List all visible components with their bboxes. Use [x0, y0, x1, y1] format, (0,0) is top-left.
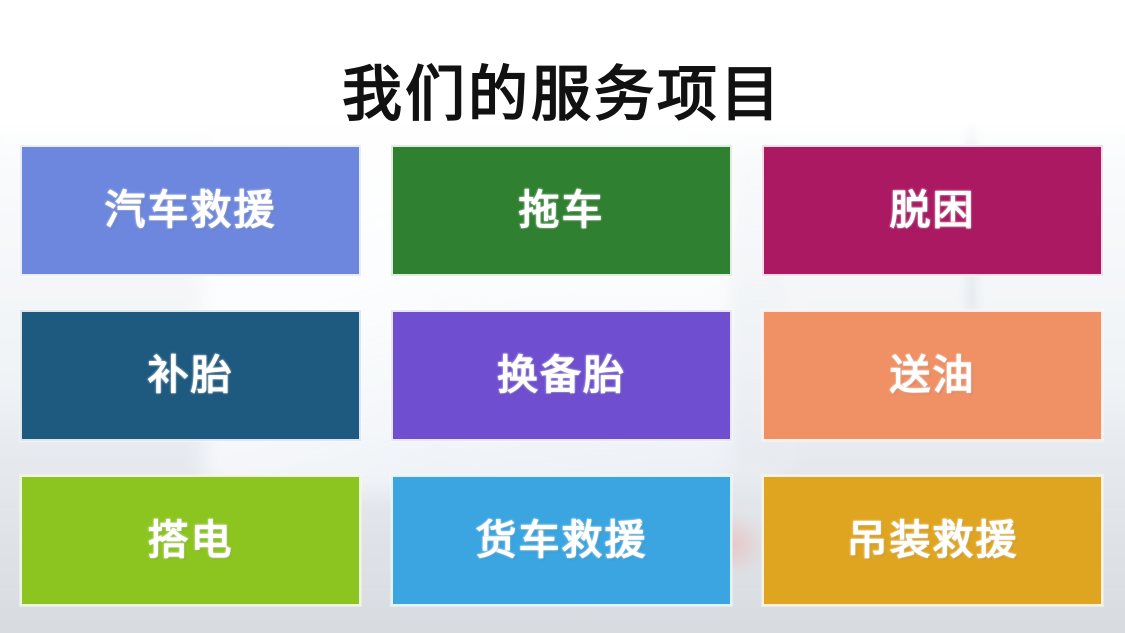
service-tile-label: 吊装救援 — [847, 520, 1019, 561]
service-tile-label: 货车救援 — [476, 520, 648, 561]
service-tile-label: 补胎 — [148, 355, 234, 396]
service-tile[interactable]: 吊装救援 — [762, 475, 1103, 606]
service-tile[interactable]: 汽车救援 — [20, 145, 361, 276]
service-tile-label: 搭电 — [148, 520, 234, 561]
service-tile[interactable]: 货车救援 — [391, 475, 732, 606]
service-list-slide: 我们的服务项目 汽车救援拖车脱困补胎换备胎送油搭电货车救援吊装救援 — [0, 0, 1125, 633]
service-tile[interactable]: 脱困 — [762, 145, 1103, 276]
service-tile-label: 汽车救援 — [105, 190, 277, 231]
service-tile[interactable]: 补胎 — [20, 310, 361, 441]
service-tile-grid: 汽车救援拖车脱困补胎换备胎送油搭电货车救援吊装救援 — [20, 145, 1103, 618]
service-tile[interactable]: 送油 — [762, 310, 1103, 441]
service-tile[interactable]: 搭电 — [20, 475, 361, 606]
service-tile-label: 换备胎 — [497, 355, 626, 396]
service-tile-label: 送油 — [890, 355, 976, 396]
service-tile[interactable]: 换备胎 — [391, 310, 732, 441]
service-tile[interactable]: 拖车 — [391, 145, 732, 276]
service-tile-label: 拖车 — [519, 190, 605, 231]
page-title: 我们的服务项目 — [0, 60, 1125, 129]
service-tile-label: 脱困 — [890, 190, 976, 231]
